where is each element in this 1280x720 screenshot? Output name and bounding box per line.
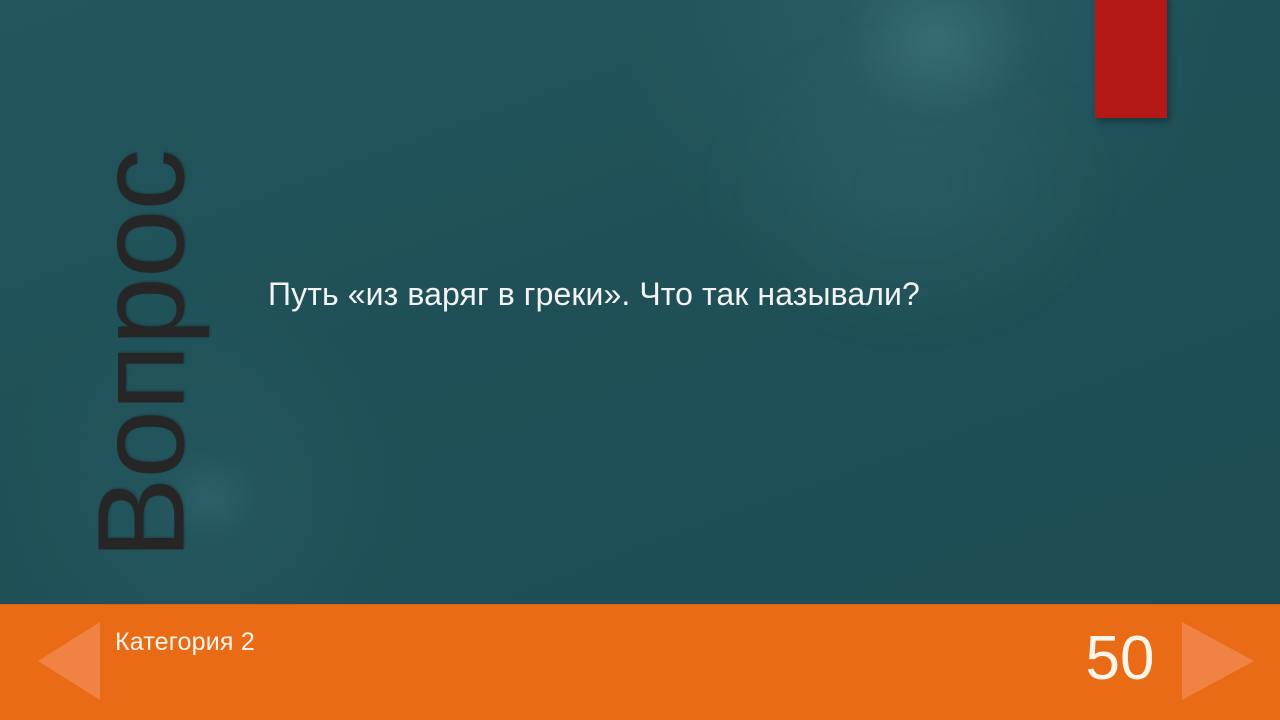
triangle-left-icon[interactable] (38, 622, 100, 700)
points-value: 50 (1080, 628, 1160, 690)
vertical-watermark-text: Вопрос (81, 94, 204, 614)
question-text: Путь «из варяг в греки». Что так называл… (268, 274, 1068, 314)
red-accent-block (1095, 0, 1167, 118)
background-glow-top-right (840, 0, 1040, 120)
triangle-right-icon[interactable] (1182, 622, 1254, 700)
question-slide: Вопрос Путь «из варяг в греки». Что так … (0, 0, 1280, 720)
category-label: Категория 2 (115, 630, 255, 655)
vertical-watermark: Вопрос (0, 0, 200, 600)
footer-divider (0, 604, 1280, 605)
